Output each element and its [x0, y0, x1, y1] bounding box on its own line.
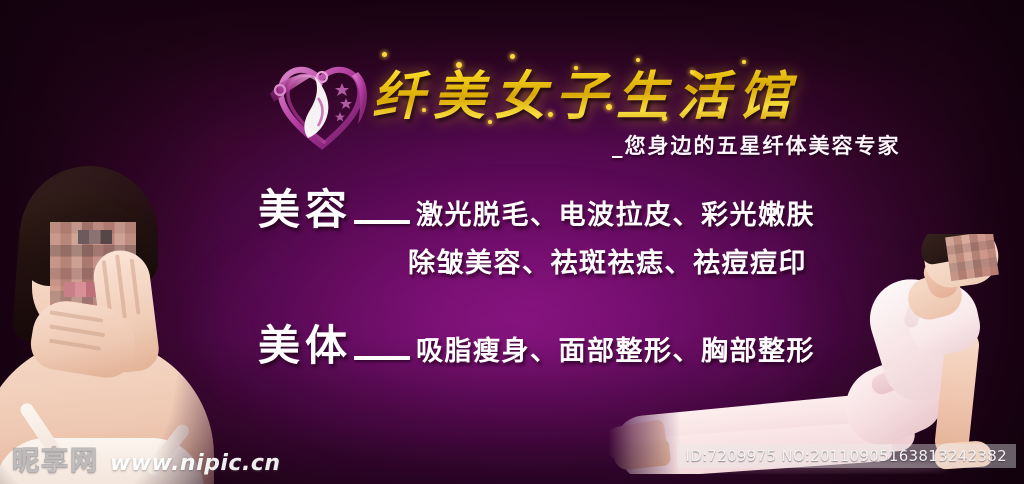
poster-canvas: 纤美女子生活馆 _您身边的五星纤体美容专家 美容 激光脱毛、电波拉皮、彩光嫩肤 … — [0, 0, 1024, 484]
service-row-body: 美体 吸脂瘦身、面部整形、胸部整形 — [258, 324, 878, 369]
watermark: 昵享网 www.nipic.cn — [12, 439, 281, 478]
service-category-beauty: 美容 — [258, 188, 352, 232]
brand-title: 纤美女子生活馆 — [372, 54, 799, 129]
services-block: 美容 激光脱毛、电波拉皮、彩光嫩肤 除皱美容、祛斑祛痣、祛痘痘印 美体 吸脂瘦身… — [258, 188, 878, 369]
service-dash-icon-2 — [354, 356, 410, 360]
service-row-beauty-line2: 除皱美容、祛斑祛痣、祛痘痘印 — [258, 241, 878, 280]
service-items-body-line1: 吸脂瘦身、面部整形、胸部整形 — [416, 329, 815, 368]
service-items-beauty-line2: 除皱美容、祛斑祛痣、祛痘痘印 — [408, 241, 807, 280]
yoga-face-mosaic — [945, 231, 999, 281]
heart-ribbon-woman-logo-icon — [266, 50, 378, 154]
watermark-site-url: www.nipic.cn — [110, 451, 281, 478]
service-category-body: 美体 — [258, 324, 352, 368]
image-id-tag: ID:7209975 NO:20110905163813242382 — [677, 444, 1017, 468]
brand-subtitle: _您身边的五星纤体美容专家 — [612, 130, 901, 160]
watermark-site-name: 昵享网 — [12, 439, 99, 478]
service-row-beauty: 美容 激光脱毛、电波拉皮、彩光嫩肤 — [258, 188, 878, 233]
service-dash-icon — [354, 220, 410, 224]
model-eye-mosaic — [78, 230, 112, 244]
left-beauty-model-image — [0, 154, 236, 484]
service-items-beauty-line1: 激光脱毛、电波拉皮、彩光嫩肤 — [416, 193, 815, 232]
